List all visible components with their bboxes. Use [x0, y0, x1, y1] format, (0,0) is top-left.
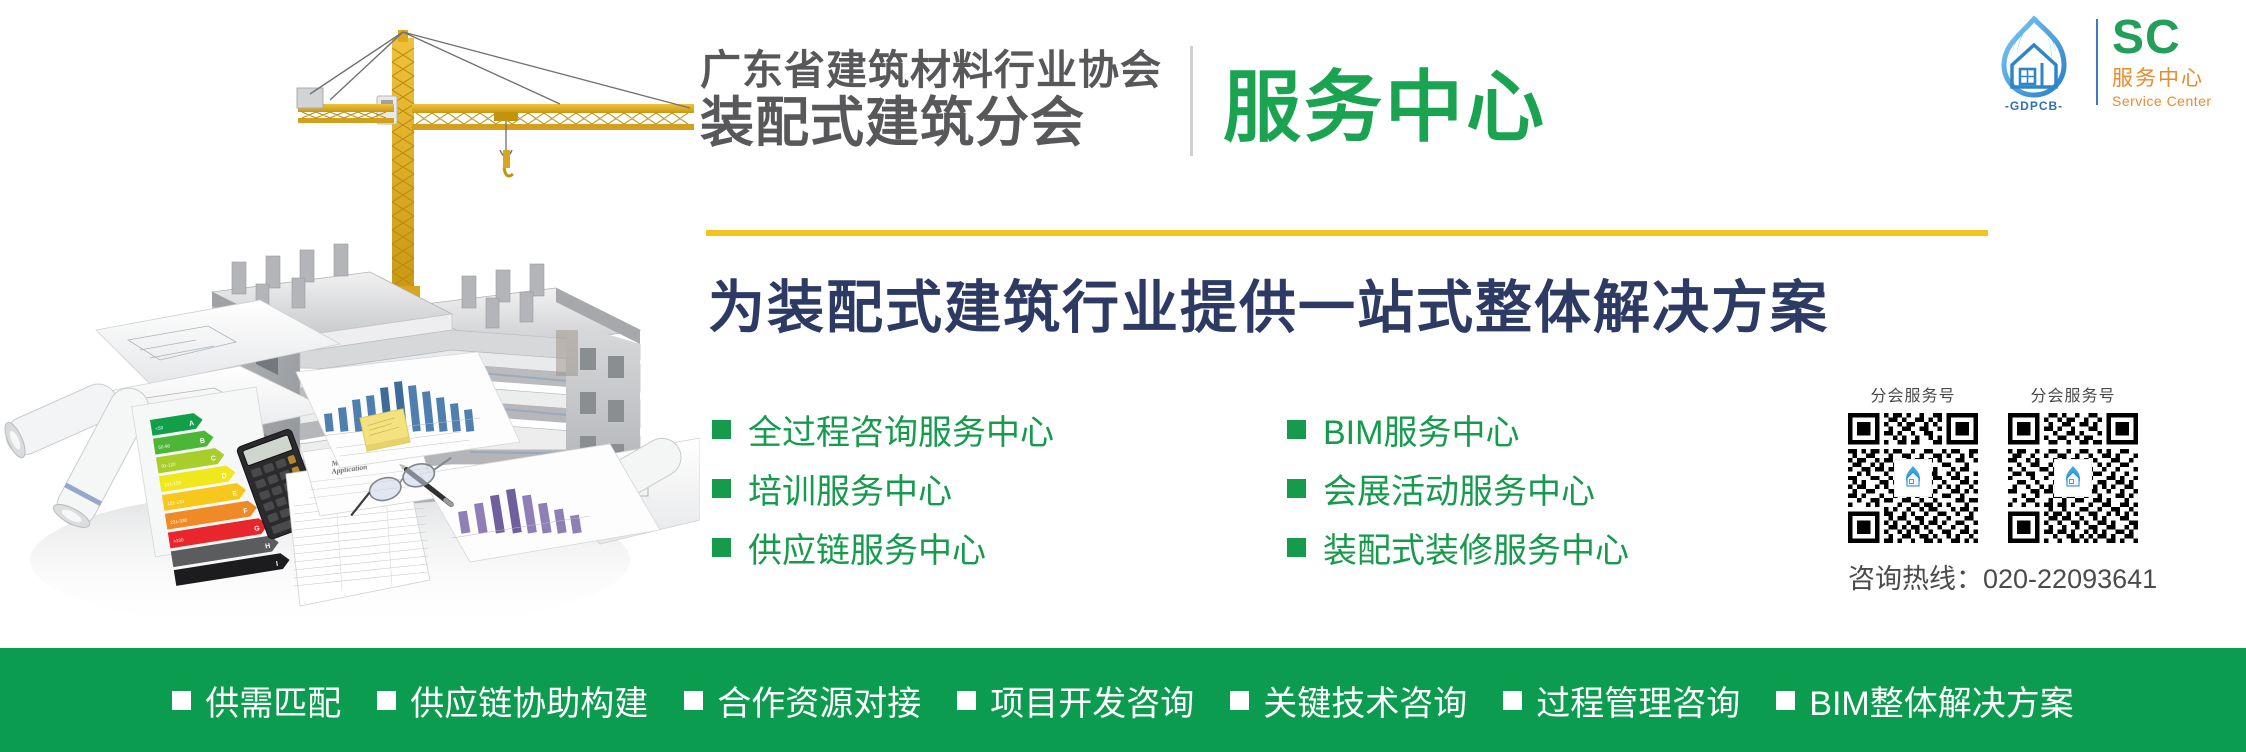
bottom-services-list: 供需匹配 供应链协助构建 合作资源对接 项目开发咨询 关键技术咨询 过程管理咨询: [172, 676, 2073, 725]
list-item-label: 供应链服务中心: [748, 523, 986, 572]
list-item[interactable]: 全过程咨询服务中心: [712, 400, 1287, 459]
qr-label: 分会服务号: [2008, 382, 2138, 406]
list-item-label: 会展活动服务中心: [1323, 464, 1595, 513]
logo-chinese-label: 服务中心: [2112, 62, 2212, 92]
qr-contact-block: 分会服务号: [1848, 382, 2230, 596]
list-item-label: 合作资源对接: [717, 676, 921, 725]
square-bullet-icon: [957, 691, 976, 710]
service-list-right: BIM服务中心 会展活动服务中心 装配式装修服务中心: [1287, 400, 1807, 577]
qr-center-logo-icon: [1894, 459, 1932, 497]
square-bullet-icon: [1503, 691, 1522, 710]
qr-label: 分会服务号: [1848, 382, 1978, 406]
brand-logo[interactable]: -GDPCB- SC 服务中心 Service Center: [1986, 12, 2236, 112]
square-bullet-icon: [172, 691, 191, 710]
list-item[interactable]: 项目开发咨询: [957, 676, 1194, 725]
association-name-line1: 广东省建筑材料行业协会: [700, 49, 1162, 92]
square-bullet-icon: [377, 691, 396, 710]
association-name: 广东省建筑材料行业协会 装配式建筑分会: [700, 49, 1162, 153]
logo-caption: -GDPCB-: [1986, 99, 2082, 113]
square-bullet-icon: [712, 420, 731, 439]
association-name-line2: 装配式建筑分会: [700, 95, 1162, 152]
list-item[interactable]: 装配式装修服务中心: [1287, 518, 1807, 577]
list-item-label: 装配式装修服务中心: [1323, 523, 1629, 572]
logo-english-label: Service Center: [2112, 93, 2212, 109]
title-block: 广东省建筑材料行业协会 装配式建筑分会 服务中心: [700, 38, 1990, 163]
svg-text:B: B: [200, 438, 206, 446]
list-item-label: BIM服务中心: [1323, 405, 1519, 454]
square-bullet-icon: [712, 479, 731, 498]
tagline: 为装配式建筑行业提供一站式整体解决方案: [708, 262, 1998, 344]
logo-vertical-divider: [2096, 19, 2098, 105]
list-item[interactable]: BIM整体解决方案: [1776, 676, 2073, 725]
gdpcb-house-flame-mini-icon: [2058, 463, 2088, 493]
service-center-title: 服务中心: [1223, 45, 1547, 157]
list-item[interactable]: 供需匹配: [172, 676, 341, 725]
list-item-label: 过程管理咨询: [1536, 676, 1740, 725]
service-center-lists: 全过程咨询服务中心 培训服务中心 供应链服务中心 BIM服务中心 会展活动服务中…: [712, 400, 1822, 577]
list-item[interactable]: 关键技术咨询: [1230, 676, 1467, 725]
list-item-label: 项目开发咨询: [990, 676, 1194, 725]
qr-code-image[interactable]: [2008, 413, 2138, 543]
list-item-label: 培训服务中心: [748, 464, 952, 513]
gdpcb-house-flame-mini-icon: [1898, 463, 1928, 493]
list-item-label: 全过程咨询服务中心: [748, 405, 1054, 454]
list-item[interactable]: 供应链服务中心: [712, 518, 1287, 577]
logo-text-block: SC 服务中心 Service Center: [2112, 15, 2212, 110]
square-bullet-icon: [1287, 479, 1306, 498]
list-item-label: 关键技术咨询: [1263, 676, 1467, 725]
list-item-label: 供需匹配: [205, 676, 341, 725]
qr-cell[interactable]: 分会服务号: [2008, 382, 2138, 543]
qr-cell[interactable]: 分会服务号: [1848, 382, 1978, 543]
square-bullet-icon: [712, 538, 731, 557]
hero-illustration: ABC DEF G <5050-9091-120 121-150151-2302…: [0, 0, 700, 648]
square-bullet-icon: [1776, 691, 1795, 710]
svg-text:C: C: [210, 455, 216, 463]
square-bullet-icon: [1230, 691, 1249, 710]
list-item[interactable]: BIM服务中心: [1287, 400, 1807, 459]
square-bullet-icon: [684, 691, 703, 710]
list-item[interactable]: 供应链协助构建: [377, 676, 648, 725]
svg-text:A: A: [189, 420, 195, 428]
list-item[interactable]: 培训服务中心: [712, 459, 1287, 518]
list-item-label: 供应链协助构建: [410, 676, 648, 725]
hotline-text: 咨询热线：020-22093641: [1848, 557, 2230, 596]
gdpcb-house-flame-icon: -GDPCB-: [1986, 13, 2082, 111]
qr-row: 分会服务号: [1848, 382, 2230, 543]
hero-construction-image: ABC DEF G <5050-9091-120 121-150151-2302…: [0, 0, 700, 648]
bottom-services-bar: 供需匹配 供应链协助构建 合作资源对接 项目开发咨询 关键技术咨询 过程管理咨询: [0, 648, 2246, 752]
list-item[interactable]: 合作资源对接: [684, 676, 921, 725]
logo-abbrev: SC: [2112, 15, 2212, 61]
gdpcb-logo-svg: [1986, 13, 2082, 101]
square-bullet-icon: [1287, 538, 1306, 557]
square-bullet-icon: [1287, 420, 1306, 439]
qr-code-image[interactable]: [1848, 413, 1978, 543]
list-item-label: BIM整体解决方案: [1809, 676, 2073, 725]
list-item[interactable]: 会展活动服务中心: [1287, 459, 1807, 518]
banner-root: ABC DEF G <5050-9091-120 121-150151-2302…: [0, 0, 2246, 752]
service-list-left: 全过程咨询服务中心 培训服务中心 供应链服务中心: [712, 400, 1287, 577]
gold-divider-rule: [706, 230, 1988, 236]
svg-text:H: H: [265, 543, 271, 551]
qr-center-logo-icon: [2054, 459, 2092, 497]
svg-text:D: D: [221, 473, 227, 481]
title-vertical-divider: [1190, 46, 1193, 156]
list-item[interactable]: 过程管理咨询: [1503, 676, 1740, 725]
